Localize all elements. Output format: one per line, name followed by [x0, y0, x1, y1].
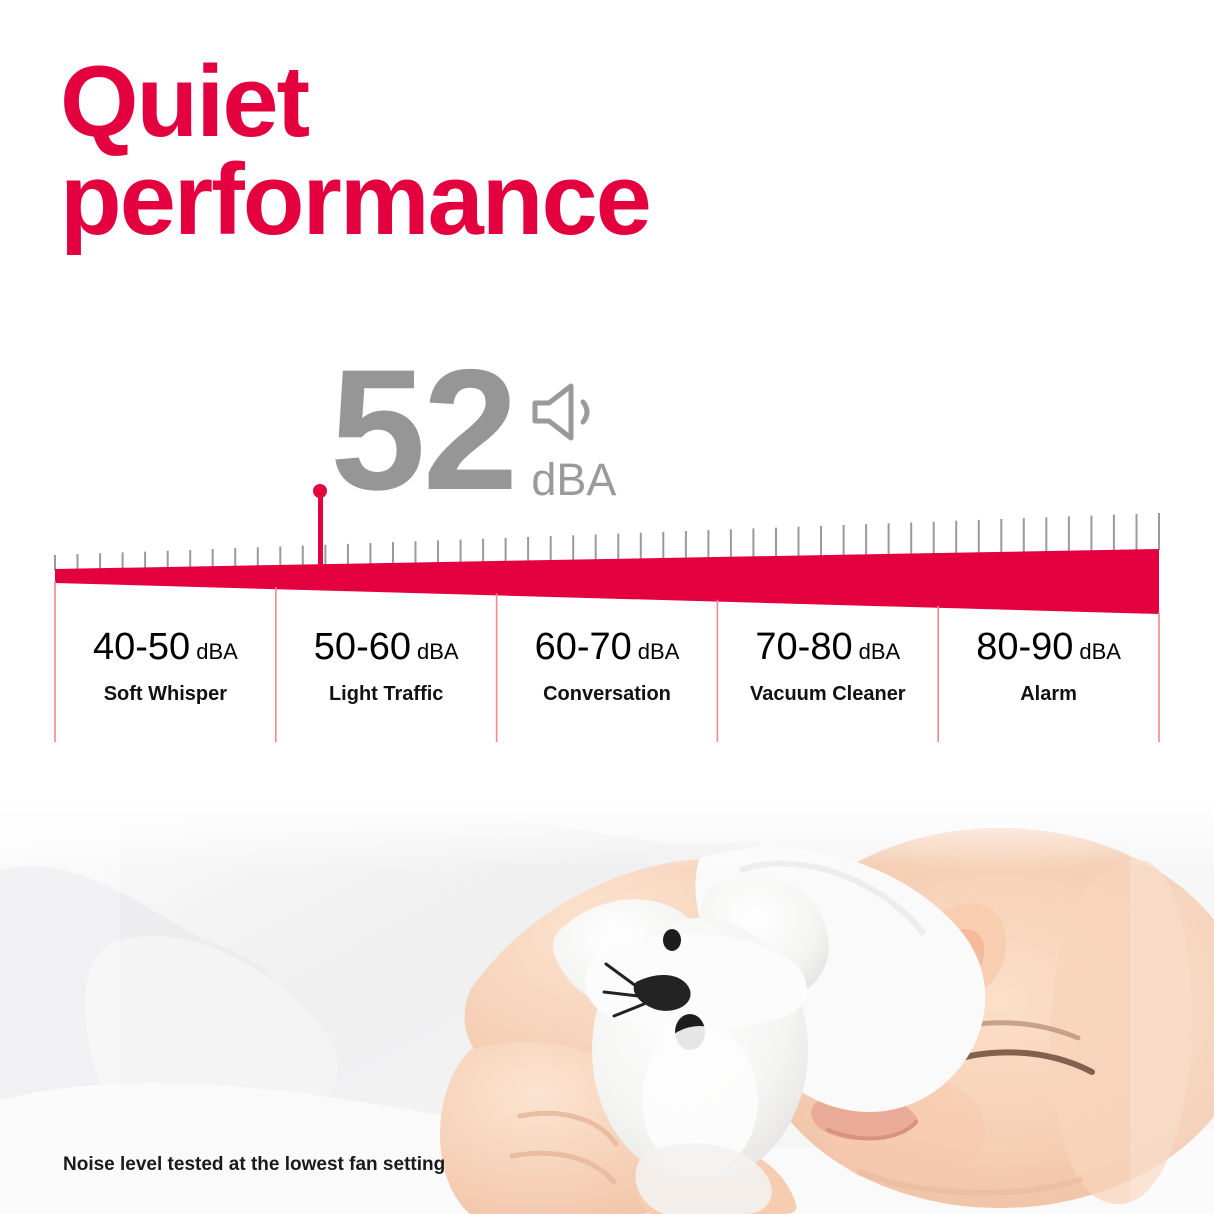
- scale-wedge-bar: [55, 549, 1159, 614]
- noise-reading-unit: dBA: [531, 457, 616, 502]
- noise-reading-value: 52: [330, 360, 515, 501]
- scale-marker-stem: [318, 491, 323, 566]
- speaker-icon: [529, 382, 601, 447]
- band-range-unit: dBA: [196, 639, 238, 664]
- band-range-value: 40-50: [93, 626, 190, 668]
- noise-reading-unit-group: dBA: [529, 360, 616, 502]
- noise-reading: 52 dBA: [330, 360, 616, 502]
- band-vacuum-cleaner: 70-80dBA Vacuum Cleaner: [717, 618, 938, 742]
- band-alarm: 80-90dBA Alarm: [938, 618, 1159, 742]
- band-name: Alarm: [1020, 684, 1077, 704]
- band-range-unit: dBA: [859, 639, 901, 664]
- band-soft-whisper: 40-50dBA Soft Whisper: [55, 618, 276, 742]
- band-range-value: 80-90: [976, 626, 1073, 668]
- scale-band-labels: 40-50dBA Soft Whisper 50-60dBA Light Tra…: [55, 618, 1159, 742]
- band-range: 50-60dBA: [314, 628, 459, 666]
- band-range-unit: dBA: [1079, 639, 1121, 664]
- band-name: Light Traffic: [329, 684, 443, 704]
- sleeping-baby-photo: [0, 800, 1214, 1214]
- scale-marker: [313, 484, 327, 566]
- band-name: Conversation: [543, 684, 671, 704]
- band-range-unit: dBA: [638, 639, 680, 664]
- band-conversation: 60-70dBA Conversation: [497, 618, 718, 742]
- band-range: 70-80dBA: [755, 628, 900, 666]
- band-range: 40-50dBA: [93, 628, 238, 666]
- band-range-value: 70-80: [755, 626, 852, 668]
- photo-caption: Noise level tested at the lowest fan set…: [63, 1155, 445, 1174]
- band-range-value: 50-60: [314, 626, 411, 668]
- scale-ticks: [55, 513, 1159, 570]
- band-range-unit: dBA: [417, 639, 459, 664]
- band-range: 80-90dBA: [976, 628, 1121, 666]
- band-name: Soft Whisper: [104, 684, 227, 704]
- band-name: Vacuum Cleaner: [750, 684, 906, 704]
- quiet-performance-infographic: Quiet performance 52 dBA 40-5: [0, 0, 1214, 1214]
- page-title: Quiet performance: [60, 54, 960, 250]
- band-light-traffic: 50-60dBA Light Traffic: [276, 618, 497, 742]
- band-range: 60-70dBA: [535, 628, 680, 666]
- band-range-value: 60-70: [535, 626, 632, 668]
